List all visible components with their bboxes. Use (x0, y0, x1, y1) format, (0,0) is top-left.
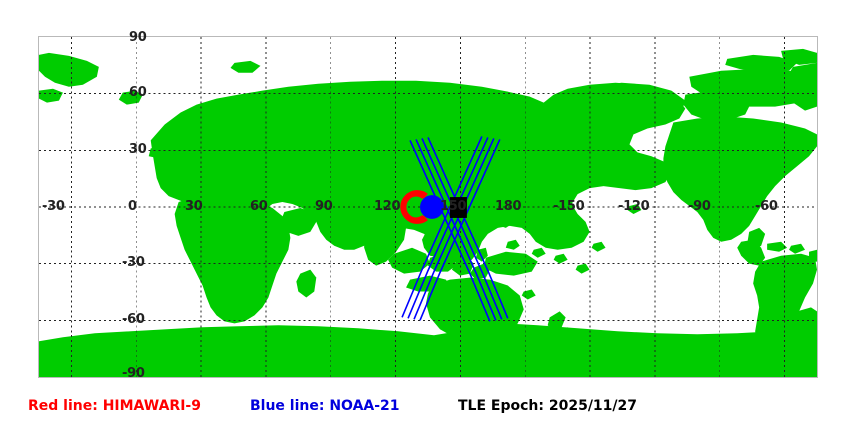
lat-label--30: -30 (122, 256, 145, 269)
lon-label-0: 0 (128, 200, 137, 213)
legend-tle-epoch: TLE Epoch: 2025/11/27 (458, 399, 637, 413)
satellite-ground-track-view: -30 0 30 60 90 120 150 180 -150 -120 -90… (0, 0, 850, 425)
lon-label--60: -60 (755, 200, 778, 213)
lon-label--90: -90 (688, 200, 711, 213)
legend-blue-line-noaa21: Blue line: NOAA-21 (250, 399, 400, 413)
legend-footer: Red line: HIMAWARI-9 Blue line: NOAA-21 … (0, 396, 850, 420)
lat-label--60: -60 (122, 313, 145, 326)
lon-label-90: 90 (315, 200, 333, 213)
lat-label-90: 90 (129, 31, 147, 44)
legend-red-line-himawari9: Red line: HIMAWARI-9 (28, 399, 201, 413)
lon-label-180: 180 (495, 200, 521, 213)
lon-label--30: -30 (42, 200, 65, 213)
lon-label-120: 120 (374, 200, 400, 213)
lat-label-60: 60 (129, 86, 147, 99)
lat-label-30: 30 (129, 143, 147, 156)
lat-label--90: -90 (122, 367, 145, 380)
lon-label--150: -150 (553, 200, 584, 213)
lon-label-60: 60 (250, 200, 268, 213)
lon-label--120: -120 (618, 200, 649, 213)
lon-label-30: 30 (185, 200, 203, 213)
lon-label-150: 150 (440, 200, 466, 213)
